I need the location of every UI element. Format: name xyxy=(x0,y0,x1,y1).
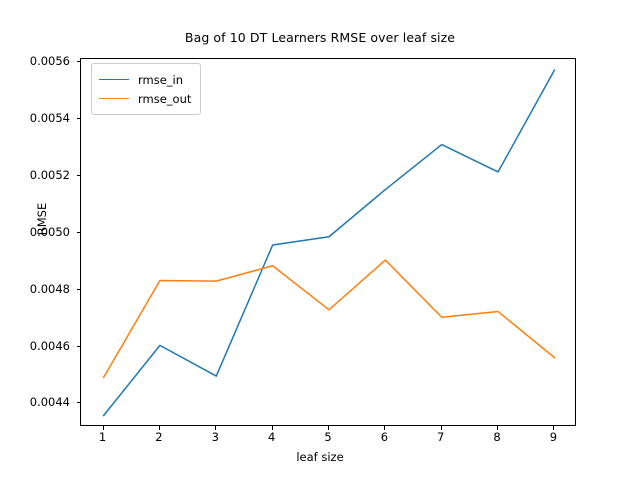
legend-item-rmse-in: rmse_in xyxy=(99,70,191,89)
y-tick-label: 0.0046 xyxy=(10,339,70,353)
y-tick-label: 0.0056 xyxy=(10,54,70,68)
y-tick-label: 0.0048 xyxy=(10,282,70,296)
page-title: Bag of 10 DT Learners RMSE over leaf siz… xyxy=(0,30,640,45)
legend-swatch-rmse-in xyxy=(99,79,129,80)
legend-label-rmse-out: rmse_out xyxy=(138,92,191,106)
x-tick-label: 4 xyxy=(252,430,292,444)
line-series-rmse-in xyxy=(104,70,555,416)
x-tick-label: 8 xyxy=(477,430,517,444)
x-tick-label: 7 xyxy=(421,430,461,444)
x-tick-label: 1 xyxy=(83,430,123,444)
line-series-rmse-out xyxy=(104,260,555,377)
y-tick-label: 0.0044 xyxy=(10,395,70,409)
y-tick-label: 0.0052 xyxy=(10,168,70,182)
legend-label-rmse-in: rmse_in xyxy=(138,73,183,87)
y-tick-label: 0.0054 xyxy=(10,111,70,125)
x-tick-label: 5 xyxy=(308,430,348,444)
x-tick-label: 9 xyxy=(533,430,573,444)
x-axis-label: leaf size xyxy=(0,450,640,464)
legend-item-rmse-out: rmse_out xyxy=(99,89,191,108)
y-tick-label: 0.0050 xyxy=(10,225,70,239)
x-tick-label: 2 xyxy=(139,430,179,444)
x-tick-label: 3 xyxy=(195,430,235,444)
matplotlib-figure: Bag of 10 DT Learners RMSE over leaf siz… xyxy=(0,0,640,480)
legend: rmse_in rmse_out xyxy=(91,63,201,115)
x-tick-label: 6 xyxy=(364,430,404,444)
legend-swatch-rmse-out xyxy=(99,98,129,99)
